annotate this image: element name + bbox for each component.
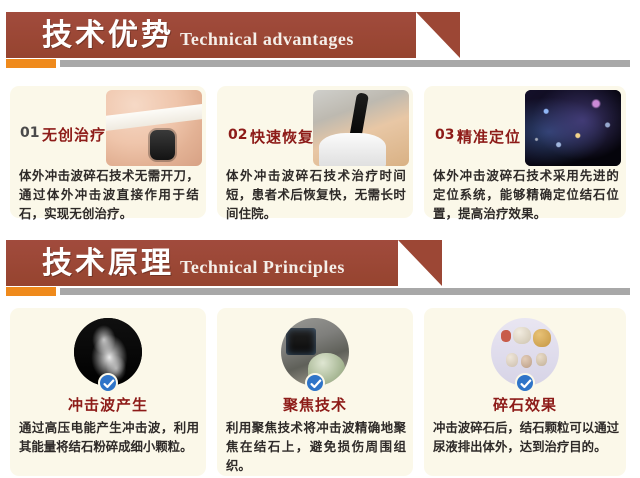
banner-gray-bar (60, 60, 630, 67)
advantage-card-1-title: 无创治疗 (42, 124, 106, 145)
banner-title-en: Technical Principles (180, 254, 345, 280)
principle-card-2-title: 聚焦技术 (217, 394, 413, 415)
advantage-card-3-title: 精准定位 (457, 126, 521, 147)
banner-title-cn: 技术优势 (42, 15, 174, 57)
advantage-card-2-body: 体外冲击波碎石技术治疗时间短，患者术后恢复快，无需长时间住院。 (226, 166, 406, 223)
advantage-card-1-body: 体外冲击波碎石技术无需开刀，通过体外冲击波直接作用于结石，实现无创治疗。 (19, 166, 199, 223)
infographic-page: 技术优势 Technical advantages 01 无创治疗 体外冲击波碎… (0, 0, 640, 478)
energy-wave-photo (525, 90, 621, 166)
check-badge-icon (515, 373, 535, 393)
advantage-card-1-number: 01 (20, 125, 39, 141)
section-banner-principles: 技术原理 Technical Principles (0, 240, 640, 300)
advantage-card-2[interactable]: 02 快速恢复 体外冲击波碎石技术治疗时间短，患者术后恢复快，无需长时间住院。 (217, 86, 413, 218)
check-badge-icon (305, 373, 325, 393)
advantage-card-2-number: 02 (228, 127, 247, 143)
advantage-card-2-title: 快速恢复 (250, 126, 314, 147)
torso-treatment-photo (106, 90, 202, 166)
principle-card-2[interactable]: 聚焦技术 利用聚焦技术将冲击波精确地聚焦在结石上，避免损伤周围组织。 (217, 308, 413, 476)
handheld-probe-photo (313, 90, 409, 166)
principle-card-3[interactable]: 碎石效果 冲击波碎石后，结石颗粒可以通过尿液排出体外，达到治疗目的。 (424, 308, 626, 476)
section-banner-advantages: 技术优势 Technical advantages (0, 12, 640, 72)
principle-card-1[interactable]: 冲击波产生 通过高压电能产生冲击波，利用其能量将结石粉碎成细小颗粒。 (10, 308, 206, 476)
check-badge-icon (98, 373, 118, 393)
principle-card-1-title: 冲击波产生 (10, 394, 206, 415)
principle-card-1-body: 通过高压电能产生冲击波，利用其能量将结石粉碎成细小颗粒。 (19, 418, 199, 456)
advantage-card-3-number: 03 (435, 127, 454, 143)
principle-card-3-body: 冲击波碎石后，结石颗粒可以通过尿液排出体外，达到治疗目的。 (433, 418, 619, 456)
principle-card-3-title: 碎石效果 (424, 394, 626, 415)
advantage-card-3[interactable]: 03 精准定位 体外冲击波碎石技术采用先进的定位系统，能够精确定位结石位置，提高… (424, 86, 626, 218)
banner-title-cn: 技术原理 (42, 243, 174, 285)
advantage-card-3-body: 体外冲击波碎石技术采用先进的定位系统，能够精确定位结石位置，提高治疗效果。 (433, 166, 619, 223)
banner-title-en: Technical advantages (180, 26, 354, 52)
banner-orange-bar (6, 287, 56, 296)
advantage-card-1[interactable]: 01 无创治疗 体外冲击波碎石技术无需开刀，通过体外冲击波直接作用于结石，实现无… (10, 86, 206, 218)
banner-gray-bar (60, 288, 630, 295)
banner-orange-bar (6, 59, 56, 68)
principle-card-2-body: 利用聚焦技术将冲击波精确地聚焦在结石上，避免损伤周围组织。 (226, 418, 406, 475)
